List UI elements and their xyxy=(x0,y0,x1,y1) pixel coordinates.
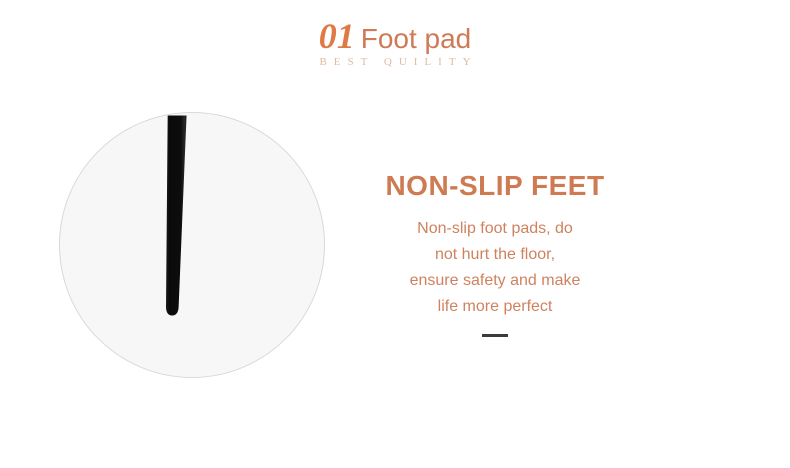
product-image-circle xyxy=(59,112,325,378)
feature-description-line: life more perfect xyxy=(360,294,630,320)
feature-description-line: ensure safety and make xyxy=(360,268,630,294)
feature-heading: NON-SLIP FEET xyxy=(360,170,630,202)
feature-description-line: Non-slip foot pads, do xyxy=(360,216,630,242)
table-leg-illustration xyxy=(60,113,324,377)
feature-text-block: NON-SLIP FEET Non-slip foot pads, do not… xyxy=(360,170,630,337)
banner-header: 01Foot pad BEST QUILITY xyxy=(0,18,790,68)
section-number: 01 xyxy=(319,16,355,56)
feature-description-line: not hurt the floor, xyxy=(360,242,630,268)
feature-description: Non-slip foot pads, do not hurt the floo… xyxy=(360,216,630,320)
section-title: Foot pad xyxy=(361,23,472,54)
feature-divider xyxy=(482,334,508,337)
header-title-row: 01Foot pad xyxy=(0,18,790,54)
table-leg-shape xyxy=(166,115,187,315)
product-feature-banner: 01Foot pad BEST QUILITY NON-SLIP FEET No… xyxy=(0,0,790,468)
header-subtitle: BEST QUILITY xyxy=(0,57,790,68)
